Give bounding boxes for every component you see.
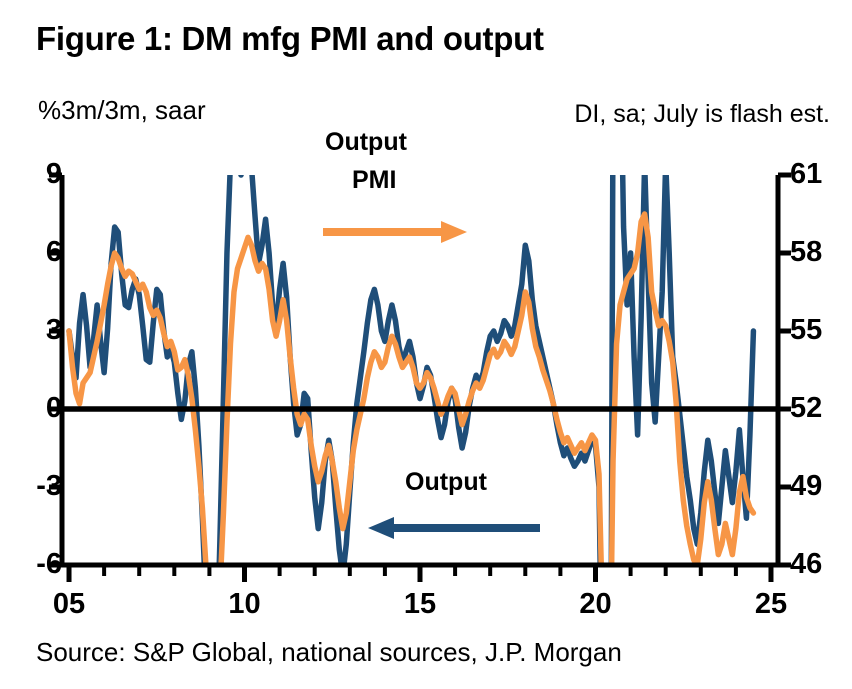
x-axis-tick-label: 20 — [579, 590, 611, 619]
left-axis-tick-label: 6 — [46, 238, 62, 267]
x-axis-tick-label: 10 — [228, 590, 260, 619]
x-axis-tick-label: 25 — [755, 590, 787, 619]
right-axis-tick-label: 61 — [790, 160, 822, 189]
left-axis-tick-label: 3 — [46, 316, 62, 345]
right-axis-tick-label: 52 — [790, 394, 822, 423]
left-axis-tick-label: 0 — [46, 394, 62, 423]
arrow-to-right-axis-head — [441, 221, 467, 243]
right-axis-tick-label: 46 — [790, 550, 822, 579]
annotation-output-pmi-line2: PMI — [352, 166, 396, 195]
x-axis-tick-label: 15 — [404, 590, 436, 619]
x-axis-tick-label: 05 — [53, 590, 85, 619]
annotation-output: Output — [405, 468, 487, 497]
right-axis-tick-label: 55 — [790, 316, 822, 345]
left-axis-tick-label: 9 — [46, 160, 62, 189]
page-title: Figure 1: DM mfg PMI and output — [36, 20, 544, 58]
left-axis-unit-label: %3m/3m, saar — [38, 95, 206, 126]
left-axis-tick-label: -3 — [36, 472, 62, 501]
right-axis-tick-label: 58 — [790, 238, 822, 267]
right-axis-tick-label: 49 — [790, 472, 822, 501]
annotation-output-pmi-line1: Output — [325, 128, 407, 157]
right-axis-unit-label: DI, sa; July is flash est. — [574, 100, 830, 129]
axis-layer — [49, 175, 791, 582]
arrow-to-left-axis-head — [368, 517, 394, 539]
source-note: Source: S&P Global, national sources, J.… — [36, 637, 622, 668]
left-axis-tick-label: -6 — [36, 550, 62, 579]
figure-container: Figure 1: DM mfg PMI and output %3m/3m, … — [0, 0, 852, 689]
